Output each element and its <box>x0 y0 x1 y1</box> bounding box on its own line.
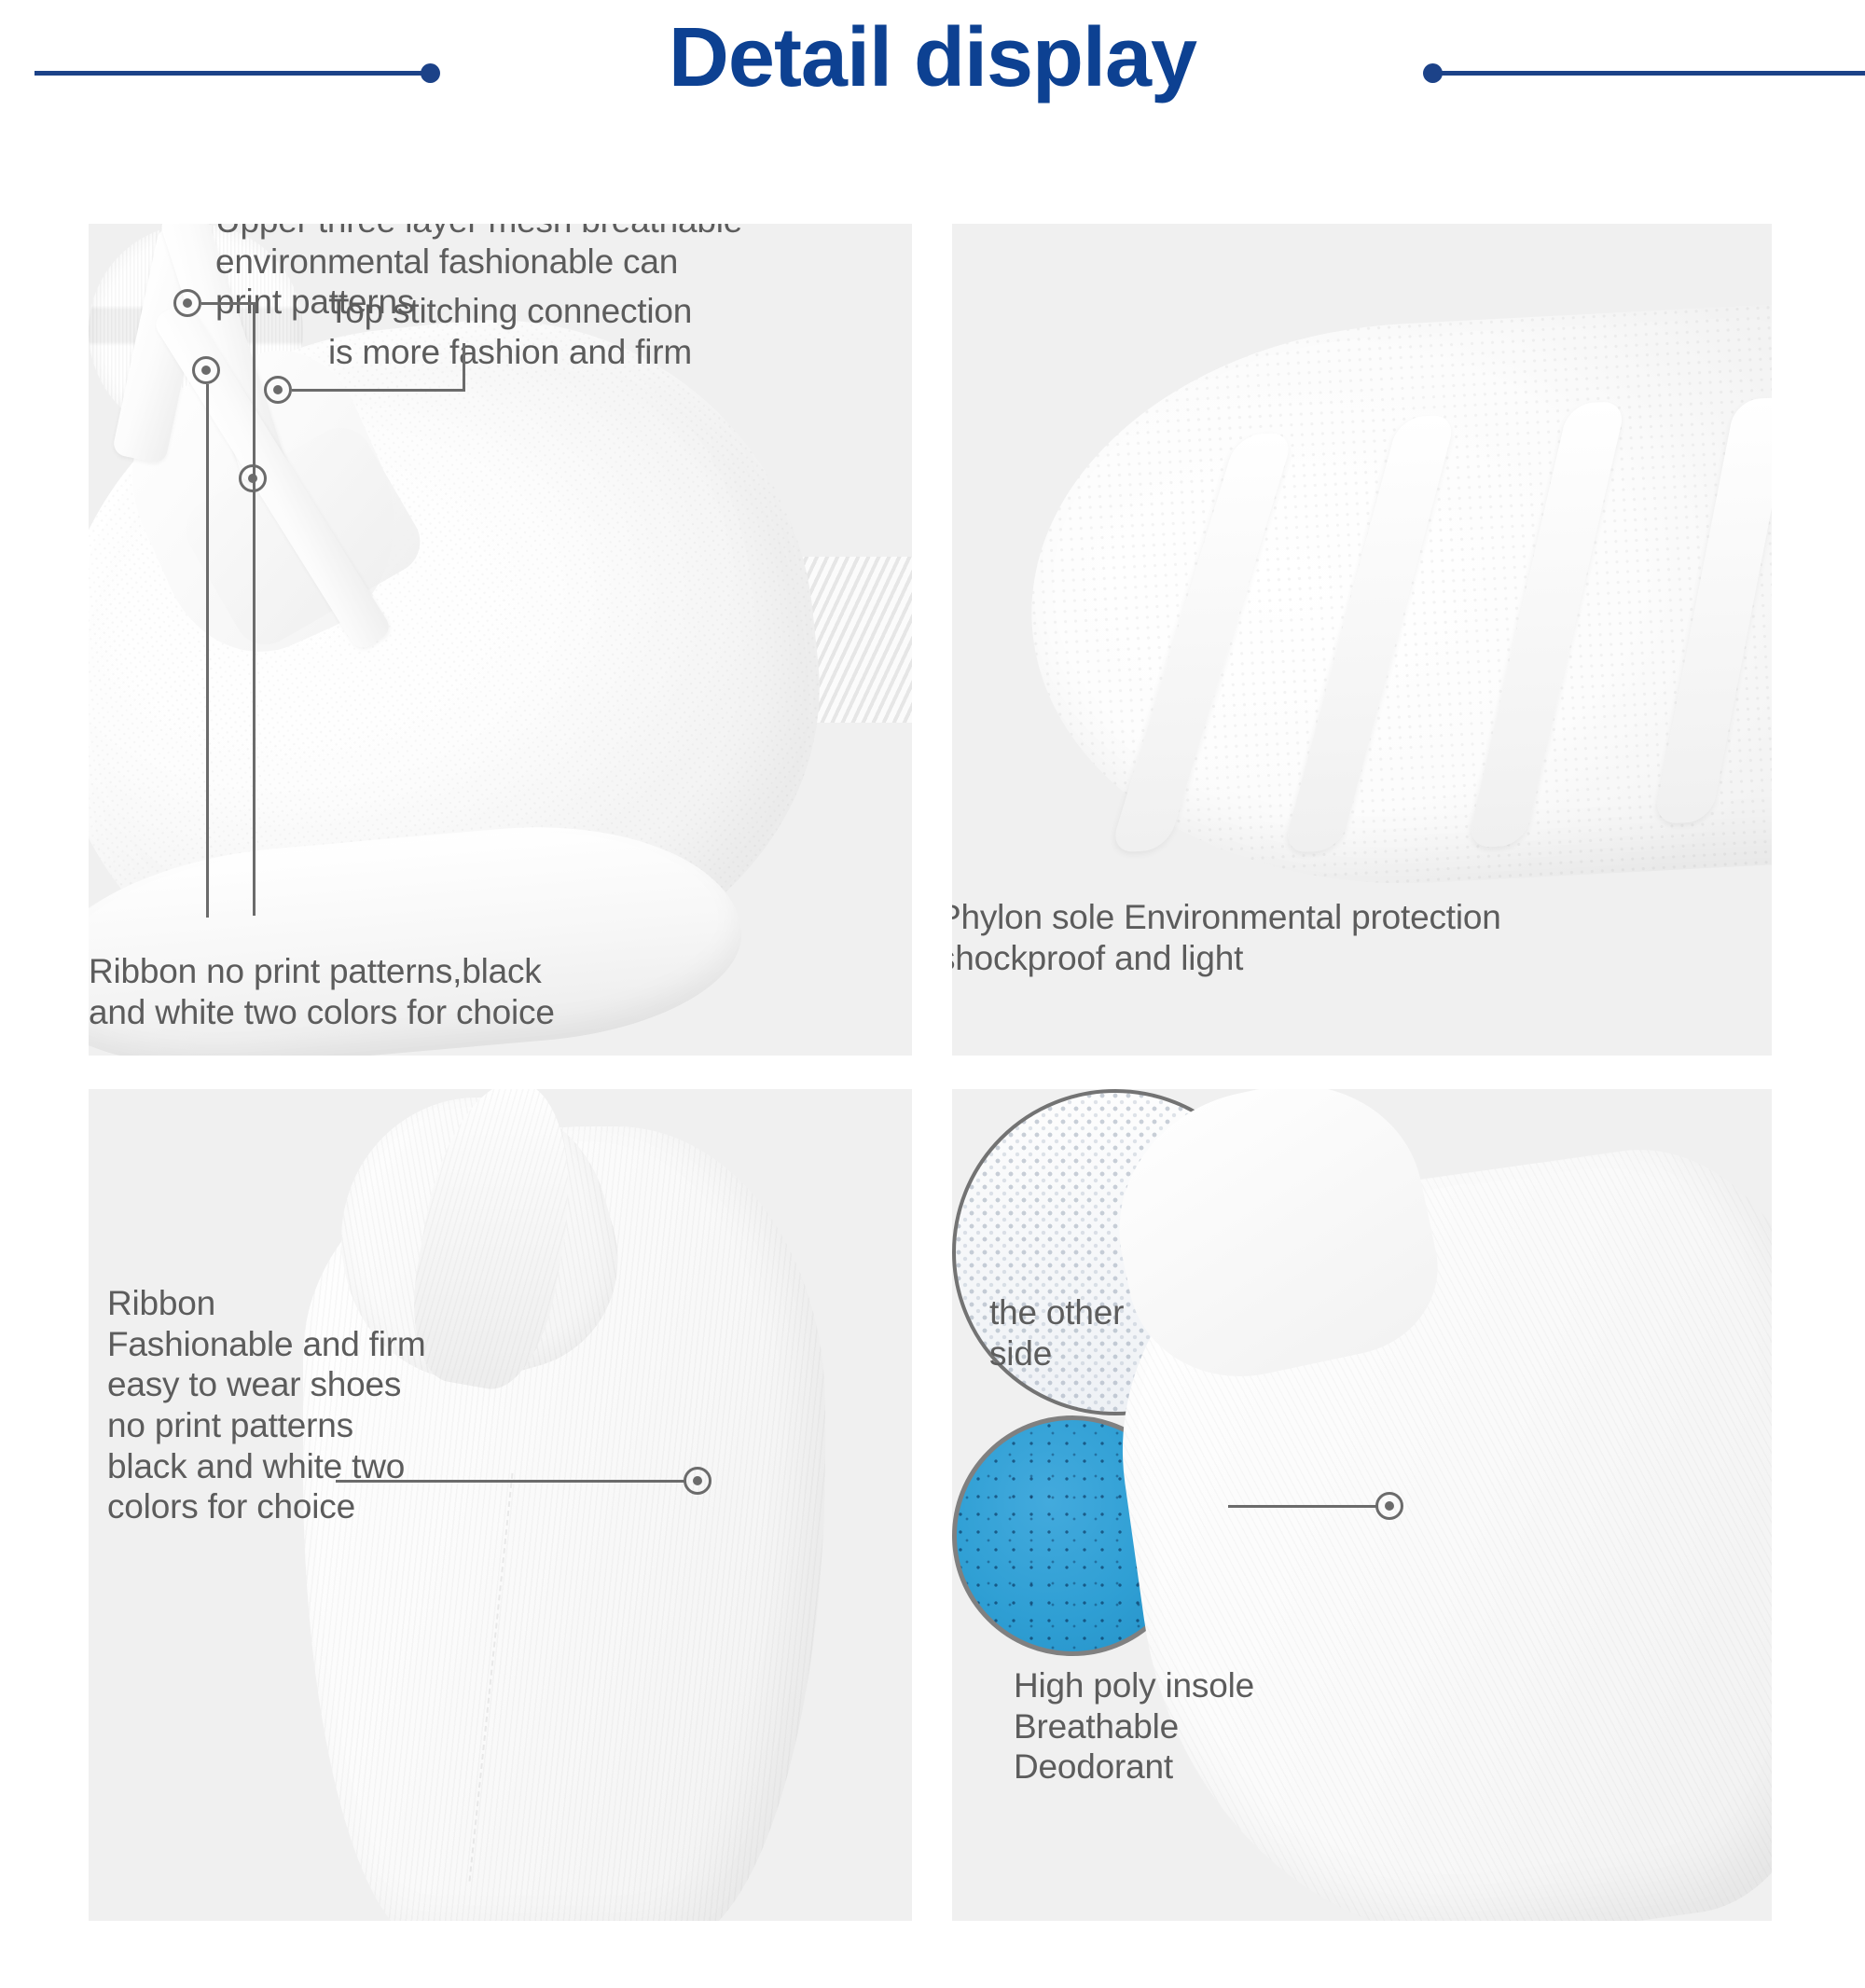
phylon-sole-note: Phylon sole Environmental protection sho… <box>952 897 1731 978</box>
top-stitching-note: Top stitching connection is more fashion… <box>328 291 739 372</box>
callout-marker-heel-ribbon[interactable] <box>684 1467 711 1495</box>
leader-line <box>292 389 465 392</box>
high-poly-note: High poly insole Breathable Deodorant <box>1014 1665 1405 1788</box>
callout-marker-insole[interactable] <box>1375 1492 1403 1520</box>
detail-panel-insole: the other side High poly insole Breathab… <box>952 1089 1772 1921</box>
ribbon-note: Ribbon no print patterns,black and white… <box>89 951 648 1032</box>
callout-marker-top-stitching[interactable] <box>264 376 292 404</box>
heel-ribbon-note: Ribbon Fashionable and firm easy to wear… <box>107 1283 546 1527</box>
header-rule-right <box>1432 71 1865 76</box>
callout-marker-lower-ribbon[interactable] <box>239 464 267 492</box>
callout-marker-ribbon[interactable] <box>192 356 220 384</box>
other-side-note: the other side <box>989 1292 1232 1374</box>
page-header: Detail display <box>0 0 1865 149</box>
leader-line <box>463 343 465 392</box>
page-title: Detail display <box>0 6 1865 111</box>
leader-line <box>206 384 209 918</box>
leader-line <box>201 302 256 305</box>
detail-panel-upper-mesh: Upper three layer mesh breathable enviro… <box>89 224 912 1056</box>
detail-panel-phylon-sole: Phylon sole Environmental protection sho… <box>952 224 1772 1056</box>
detail-panel-heel-ribbon: Ribbon Fashionable and firm easy to wear… <box>89 1089 912 1921</box>
leader-line <box>1228 1505 1377 1508</box>
outsole-photo <box>1017 300 1772 903</box>
callout-marker-upper-mesh[interactable] <box>173 289 201 317</box>
leader-line <box>336 1480 685 1483</box>
leader-line <box>253 302 256 916</box>
